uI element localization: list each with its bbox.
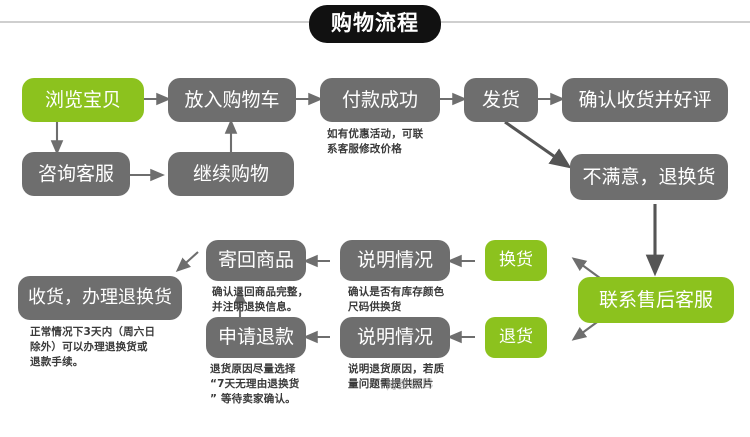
arrow-sendback-to-receive: [178, 252, 198, 270]
watermark-overlay: 阿里巴巴: [386, 375, 435, 393]
caption-send-back-goods: 确认退回商品完整， 并注明退换信息。: [212, 285, 332, 315]
node-explain-return[interactable]: 说明情况: [340, 317, 450, 358]
node-browse-items[interactable]: 浏览宝贝: [22, 78, 144, 122]
node-shipped[interactable]: 发货: [464, 78, 538, 122]
caption-explain-exchange: 确认是否有库存颜色 尺码供换货: [348, 285, 468, 315]
node-send-back-goods[interactable]: 寄回商品: [206, 240, 306, 281]
node-apply-refund[interactable]: 申请退款: [206, 317, 306, 358]
node-add-to-cart[interactable]: 放入购物车: [168, 78, 296, 122]
caption-apply-refund: 退货原因尽量选择 “7天无理由退换货 ” 等待卖家确认。: [210, 362, 332, 408]
caption-payment-success: 如有优惠活动，可联 系客服修改价格: [327, 127, 452, 157]
node-continue-shopping[interactable]: 继续购物: [168, 152, 294, 196]
page-title: 购物流程: [309, 5, 441, 43]
node-payment-success[interactable]: 付款成功: [320, 78, 440, 122]
node-receive-handle-return[interactable]: 收货，办理退换货: [18, 276, 182, 320]
node-exchange-goods[interactable]: 换货: [485, 240, 547, 281]
shopping-flow-diagram: 购物流程: [0, 0, 750, 437]
node-return-goods[interactable]: 退货: [485, 317, 547, 358]
arrow-ship-to-unsatisfied: [505, 122, 568, 166]
caption-receive-handle-return: 正常情况下3天内（周六日 除外）可以办理退换货或 退款手续。: [30, 325, 190, 371]
node-consult-service[interactable]: 咨询客服: [22, 152, 130, 196]
node-unsatisfied-return[interactable]: 不满意，退换货: [570, 154, 728, 200]
node-explain-exchange[interactable]: 说明情况: [340, 240, 450, 281]
node-contact-after-sales[interactable]: 联系售后客服: [578, 277, 734, 323]
node-confirm-receipt[interactable]: 确认收货并好评: [562, 78, 728, 122]
